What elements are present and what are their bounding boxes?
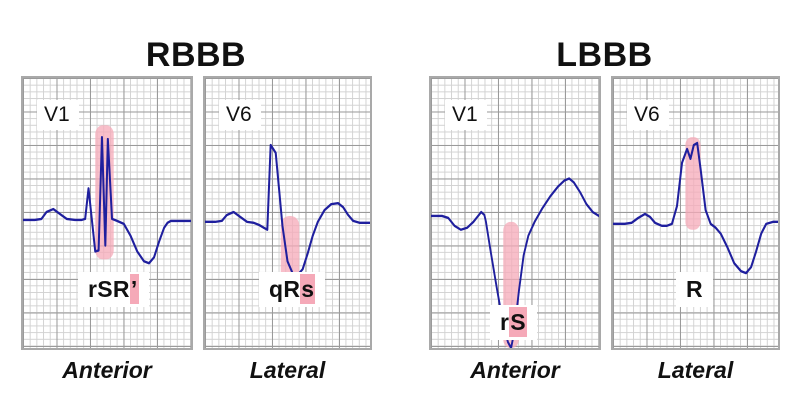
region-caption-lbbb-v6: Lateral	[611, 356, 780, 384]
region-caption-rbbb-v6: Lateral	[203, 356, 372, 384]
morphology-text-highlighted: S	[509, 307, 527, 337]
lead-label-rbbb-v6: V6	[219, 100, 261, 130]
ecg-comparison-figure: RBBB V1 rSR’ V6 qRs Anterior Lateral LBB…	[0, 0, 800, 416]
morphology-text-plain: qR	[269, 276, 300, 302]
morphology-text-plain: rSR	[88, 276, 130, 302]
group-title-rbbb: RBBB	[21, 38, 371, 72]
morphology-text-highlighted: s	[300, 274, 315, 304]
ecg-panel-lbbb-v1: V1 rS	[429, 76, 601, 350]
ecg-panel-rbbb-v1: V1 rSR’	[21, 76, 193, 350]
morphology-text-plain: r	[500, 309, 509, 335]
morphology-text-highlighted: ’	[130, 274, 139, 304]
morphology-label-rbbb-v6: qRs	[259, 272, 325, 307]
region-caption-rbbb-v1: Anterior	[21, 356, 193, 384]
lead-label-lbbb-v6: V6	[627, 100, 669, 130]
lead-label-lbbb-v1: V1	[445, 100, 487, 130]
morphology-label-lbbb-v6: R	[676, 272, 713, 307]
lead-label-rbbb-v1: V1	[37, 100, 79, 130]
morphology-label-lbbb-v1: rS	[490, 305, 537, 340]
ecg-waveform-rbbb-v6	[205, 145, 370, 275]
morphology-text-plain: R	[686, 276, 703, 302]
ecg-panel-lbbb-v6: V6 R	[611, 76, 780, 350]
morphology-label-rbbb-v1: rSR’	[78, 272, 149, 307]
region-caption-lbbb-v1: Anterior	[429, 356, 601, 384]
ecg-panel-rbbb-v6: V6 qRs	[203, 76, 372, 350]
group-title-lbbb: LBBB	[429, 38, 780, 72]
